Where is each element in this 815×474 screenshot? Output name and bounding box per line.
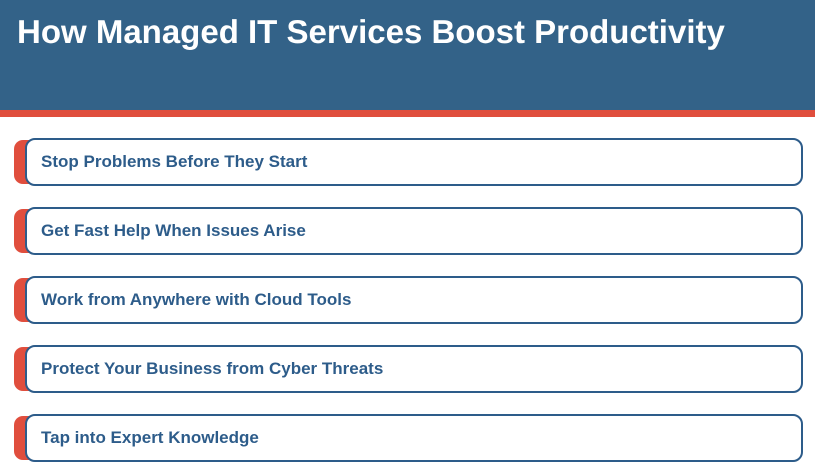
- list-item[interactable]: Work from Anywhere with Cloud Tools: [14, 276, 803, 324]
- benefit-card[interactable]: Tap into Expert Knowledge: [25, 414, 803, 462]
- list-item[interactable]: Protect Your Business from Cyber Threats: [14, 345, 803, 393]
- benefit-card-label: Work from Anywhere with Cloud Tools: [41, 290, 351, 310]
- header-accent-bar: [0, 110, 815, 117]
- benefit-card-label: Protect Your Business from Cyber Threats: [41, 359, 383, 379]
- benefit-card-label: Tap into Expert Knowledge: [41, 428, 259, 448]
- list-item[interactable]: Stop Problems Before They Start: [14, 138, 803, 186]
- benefit-card-label: Get Fast Help When Issues Arise: [41, 221, 306, 241]
- infographic-page: How Managed IT Services Boost Productivi…: [0, 0, 815, 474]
- benefit-card-list: Stop Problems Before They Start Get Fast…: [0, 117, 815, 462]
- benefit-card[interactable]: Stop Problems Before They Start: [25, 138, 803, 186]
- list-item[interactable]: Get Fast Help When Issues Arise: [14, 207, 803, 255]
- benefit-card[interactable]: Protect Your Business from Cyber Threats: [25, 345, 803, 393]
- header-banner: How Managed IT Services Boost Productivi…: [0, 0, 815, 110]
- benefit-card[interactable]: Get Fast Help When Issues Arise: [25, 207, 803, 255]
- benefit-card[interactable]: Work from Anywhere with Cloud Tools: [25, 276, 803, 324]
- page-title: How Managed IT Services Boost Productivi…: [17, 11, 795, 53]
- benefit-card-label: Stop Problems Before They Start: [41, 152, 307, 172]
- list-item[interactable]: Tap into Expert Knowledge: [14, 414, 803, 462]
